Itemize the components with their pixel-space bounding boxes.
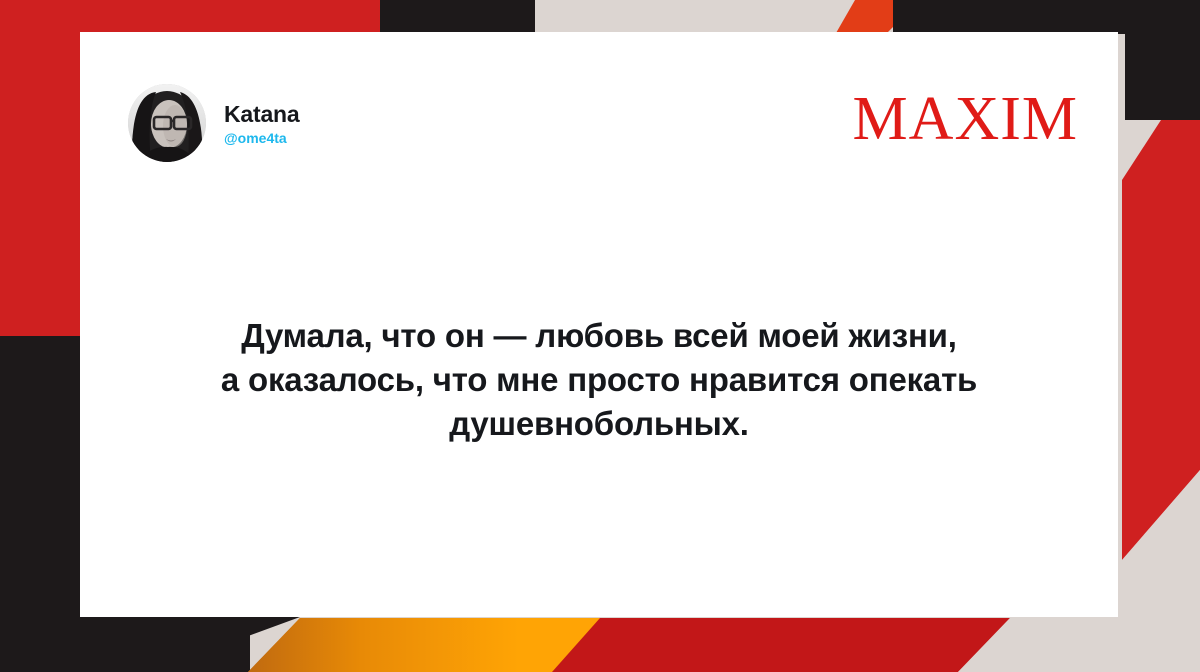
bg-shape-deepred-band-bottom [552, 618, 1010, 672]
avatar[interactable] [128, 84, 206, 162]
bg-shape-dark-right-upper [1125, 32, 1200, 120]
author-handle[interactable]: @ome4ta [224, 131, 300, 146]
card-header: Katana @ome4ta MAXIM [128, 84, 1078, 162]
quote-text: Думала, что он — любовь всей моей жизни,… [140, 314, 1058, 446]
quote-line-2: а оказалось, что мне просто нравится опе… [140, 358, 1058, 402]
author-text: Katana @ome4ta [224, 100, 300, 147]
avatar-photo-woman-glasses [128, 84, 206, 162]
quote-line-3: душевнобольных. [140, 402, 1058, 446]
bg-shape-dark-topright-bar [893, 0, 1200, 34]
maxim-logo: MAXIM [853, 84, 1078, 150]
poster-canvas: Katana @ome4ta MAXIM Думала, что он — лю… [0, 0, 1200, 672]
quote-card: Katana @ome4ta MAXIM Думала, что он — лю… [80, 32, 1118, 617]
quote-line-1: Думала, что он — любовь всей моей жизни, [140, 314, 1058, 358]
author-name: Katana [224, 102, 300, 127]
author-block[interactable]: Katana @ome4ta [128, 84, 300, 162]
